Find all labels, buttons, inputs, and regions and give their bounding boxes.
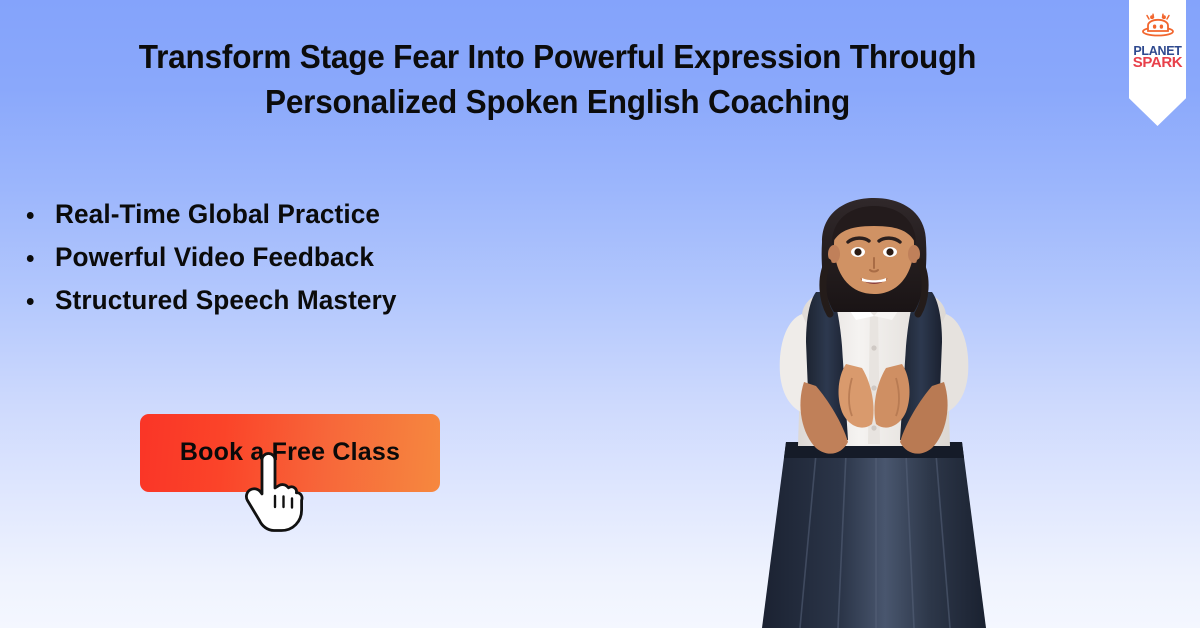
bullet-dot-icon [27,212,34,219]
brand-name-line-2: SPARK [1133,57,1182,69]
feature-label: Structured Speech Mastery [55,285,397,315]
promo-banner: Transform Stage Fear Into Powerful Expre… [0,0,1200,628]
list-item: Powerful Video Feedback [22,236,397,279]
list-item: Structured Speech Mastery [22,279,397,322]
robot-mascot-icon [1141,13,1175,41]
cta-container: Book a Free Class [140,414,440,492]
feature-label: Real-Time Global Practice [55,199,380,229]
student-photo [724,196,1024,628]
bullet-dot-icon [27,298,34,305]
bullet-dot-icon [27,255,34,262]
feature-list: Real-Time Global Practice Powerful Video… [22,193,408,322]
feature-label: Powerful Video Feedback [55,242,374,272]
list-item: Real-Time Global Practice [22,193,397,236]
brand-name: PLANET SPARK [1133,45,1182,69]
page-title: Transform Stage Fear Into Powerful Expre… [92,34,1023,124]
planetspark-logo-ribbon[interactable]: PLANET SPARK [1129,0,1186,126]
book-free-class-button[interactable]: Book a Free Class [140,414,440,492]
